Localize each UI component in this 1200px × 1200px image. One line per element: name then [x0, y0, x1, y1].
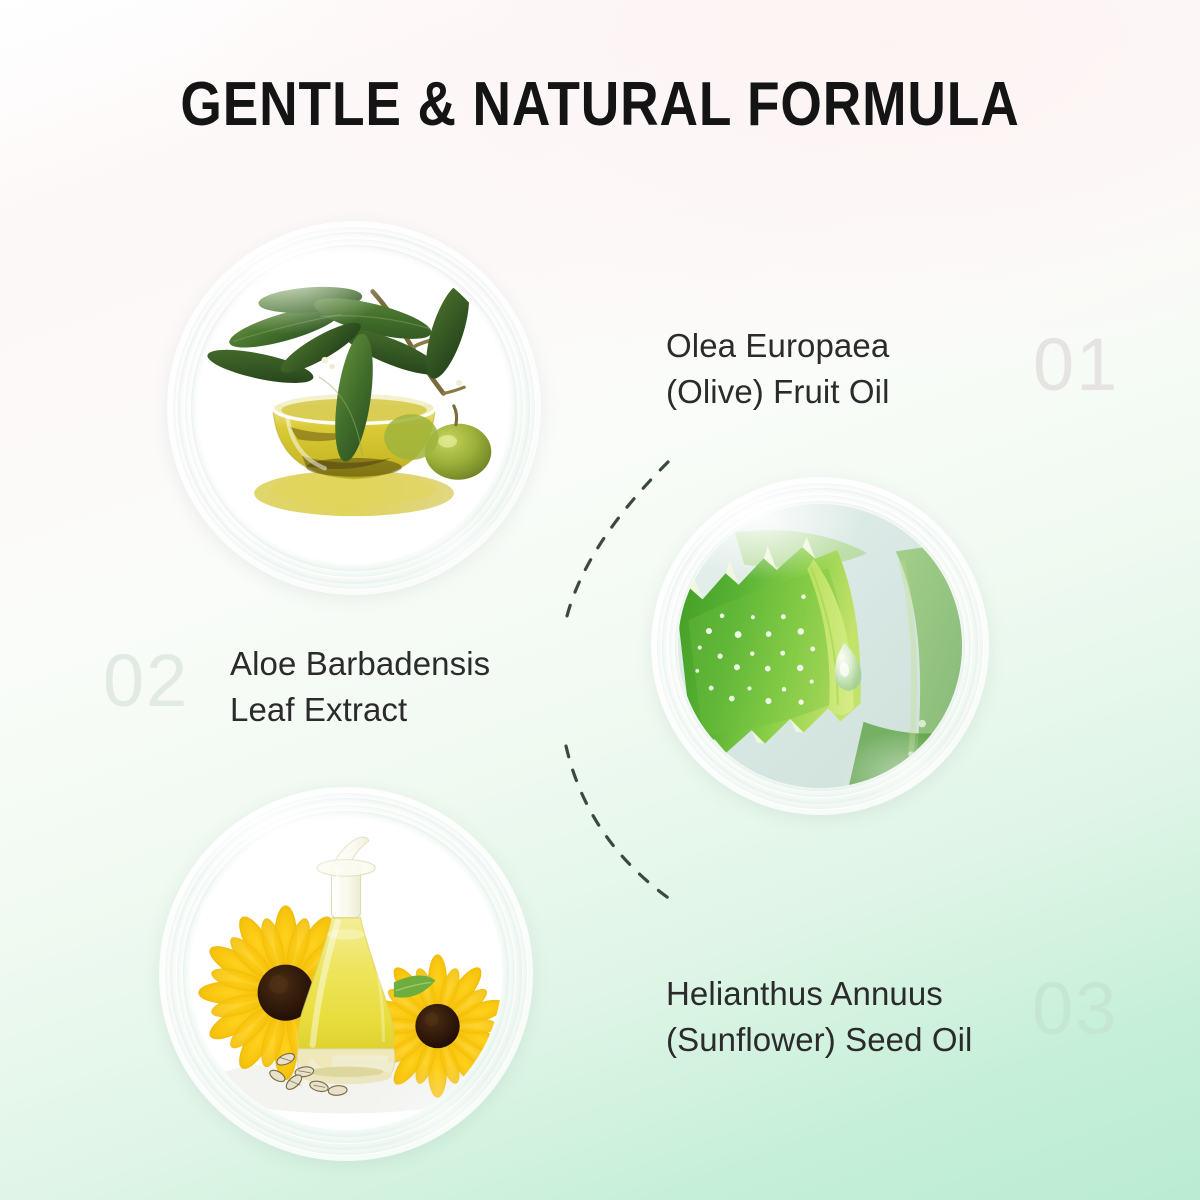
ingredient-image-sunflower: [160, 788, 532, 1160]
page-title: GENTLE & NATURAL FORMULA: [84, 74, 1116, 136]
ingredient-infographic-poster: GENTLE & NATURAL FORMULA: [0, 0, 1200, 1200]
ingredient-label-sunflower: Helianthus Annuus (Sunflower) Seed Oil: [666, 971, 972, 1062]
ingredient-image-aloe: [652, 478, 988, 814]
ingredient-number-03: 03: [1032, 972, 1118, 1046]
olive-photo: [198, 252, 510, 564]
ingredient-number-02: 02: [103, 644, 189, 718]
aloe-photo: [678, 504, 962, 788]
ingredient-image-olive: [168, 222, 540, 594]
sunflower-photo: [190, 818, 502, 1130]
ingredient-label-olive: Olea Europaea (Olive) Fruit Oil: [666, 323, 890, 414]
ingredient-label-aloe: Aloe Barbadensis Leaf Extract: [230, 641, 490, 732]
ingredient-number-01: 01: [1033, 328, 1119, 402]
